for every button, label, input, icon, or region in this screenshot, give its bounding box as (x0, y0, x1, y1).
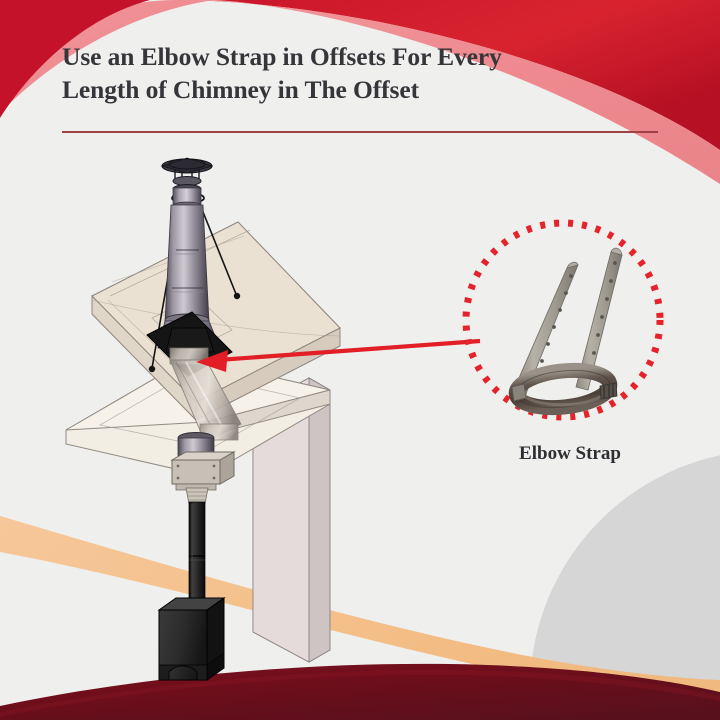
title-line-1: Use an Elbow Strap in Offsets For Every (62, 40, 662, 73)
title-divider-rule (62, 131, 658, 133)
page-title: Use an Elbow Strap in Offsets For Every … (62, 40, 662, 106)
background-decoration-layer (0, 0, 720, 720)
infographic-canvas: Use an Elbow Strap in Offsets For Every … (0, 0, 720, 720)
title-line-2: Length of Chimney in The Offset (62, 73, 662, 106)
callout-caption: Elbow Strap (470, 443, 670, 465)
